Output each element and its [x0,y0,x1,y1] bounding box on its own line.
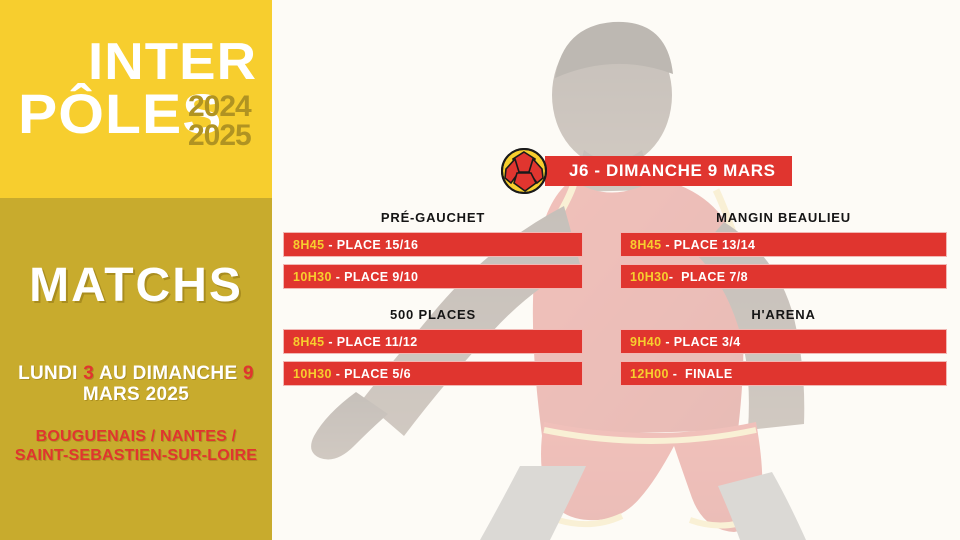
match-label: PLACE 9/10 [344,270,418,284]
match-time: 10H30 [293,270,332,284]
match-separator: - [661,238,673,252]
match-time: 12H00 [630,367,669,381]
venue-block-harena: H'ARENA 9H40 - PLACE 3/4 12H00 - FINALE [620,307,947,393]
venue-title: H'ARENA [620,307,947,322]
venue-block-pre-gauchet: PRÉ-GAUCHET 8H45 - PLACE 15/16 10H30 - P… [283,210,583,296]
match-schedule-grid: PRÉ-GAUCHET 8H45 - PLACE 15/16 10H30 - P… [0,0,960,540]
match-row[interactable]: 10H30 - PLACE 9/10 [283,264,583,289]
match-label: PLACE 7/8 [681,270,748,284]
match-row[interactable]: 8H45 - PLACE 11/12 [283,329,583,354]
match-row[interactable]: 10H30 - PLACE 5/6 [283,361,583,386]
venue-block-mangin-beaulieu: MANGIN BEAULIEU 8H45 - PLACE 13/14 10H30… [620,210,947,296]
match-separator: - [324,238,336,252]
venue-title: MANGIN BEAULIEU [620,210,947,225]
match-time: 8H45 [293,238,324,252]
match-separator: - [324,335,336,349]
match-separator: - [661,335,673,349]
match-separator: - [669,270,681,284]
handball-ball-icon [500,147,548,195]
match-label: PLACE 5/6 [344,367,411,381]
venue-block-500-places: 500 PLACES 8H45 - PLACE 11/12 10H30 - PL… [283,307,583,393]
match-label: FINALE [685,367,733,381]
match-label: PLACE 15/16 [337,238,419,252]
match-label: PLACE 11/12 [337,335,418,349]
poster-root: INTER PÔLES 2024 2025 MATCHS LUNDI 3 AU … [0,0,960,540]
match-time: 10H30 [630,270,669,284]
venue-title: 500 PLACES [283,307,583,322]
match-time: 8H45 [630,238,661,252]
match-separator: - [332,367,344,381]
match-row[interactable]: 8H45 - PLACE 13/14 [620,232,947,257]
match-label: PLACE 13/14 [674,238,756,252]
match-row[interactable]: 8H45 - PLACE 15/16 [283,232,583,257]
match-time: 10H30 [293,367,332,381]
match-row[interactable]: 9H40 - PLACE 3/4 [620,329,947,354]
match-label: PLACE 3/4 [674,335,741,349]
match-time: 8H45 [293,335,324,349]
match-row[interactable]: 12H00 - FINALE [620,361,947,386]
match-row[interactable]: 10H30 - PLACE 7/8 [620,264,947,289]
match-time: 9H40 [630,335,661,349]
match-separator: - [669,367,685,381]
venue-title: PRÉ-GAUCHET [283,210,583,225]
match-separator: - [332,270,344,284]
